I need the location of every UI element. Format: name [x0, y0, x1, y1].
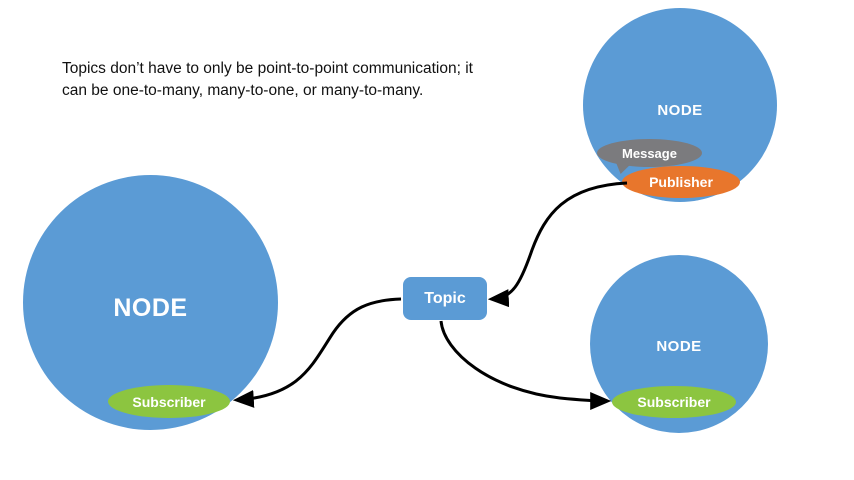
node-label-left: NODE [23, 294, 278, 323]
arrow-publisher-to-topic [492, 183, 627, 299]
subscriber-pill-left[interactable]: Subscriber [108, 385, 230, 418]
node-label-top-right: NODE [583, 102, 777, 119]
arrow-topic-to-subscriber-bottom-right [441, 321, 607, 401]
publisher-pill[interactable]: Publisher [622, 166, 740, 198]
subscriber-pill-bottom-right[interactable]: Subscriber [612, 386, 736, 418]
diagram-canvas: Topics don’t have to only be point-to-po… [0, 0, 854, 480]
topic-box[interactable]: Topic [403, 277, 487, 320]
caption-text: Topics don’t have to only be point-to-po… [62, 58, 477, 102]
node-label-bottom-right: NODE [590, 338, 768, 355]
message-pill[interactable]: Message [597, 139, 702, 167]
topic-label: Topic [424, 290, 465, 308]
